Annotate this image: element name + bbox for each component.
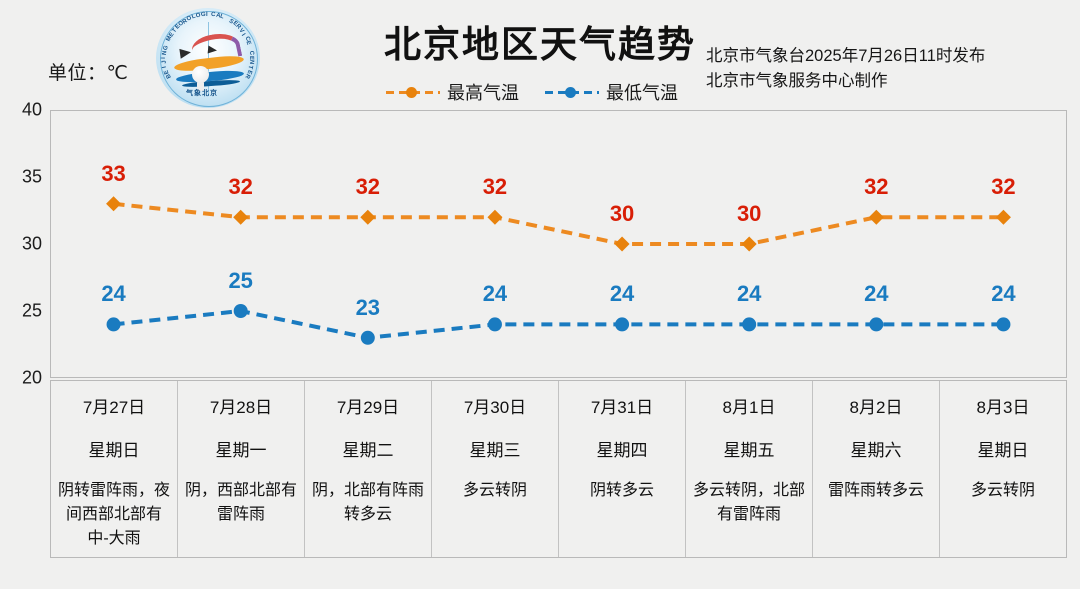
forecast-date: 7月31日 — [591, 393, 653, 418]
data-point-high — [360, 210, 375, 225]
data-point-high — [996, 210, 1011, 225]
data-label-high: 32 — [228, 174, 252, 200]
data-point-high — [106, 196, 121, 211]
forecast-weekday: 星期六 — [851, 436, 902, 461]
data-label-high: 33 — [101, 161, 125, 187]
chart-header: 单位：℃ BEIJING METEOROLOGICAL SERVICE CENT… — [0, 0, 1080, 104]
data-point-low — [488, 317, 502, 331]
y-axis-tick: 30 — [22, 234, 42, 255]
y-axis: 2025303540 — [0, 110, 50, 378]
forecast-column: 7月27日星期日阴转雷阵雨，夜间西部北部有中-大雨 — [51, 381, 178, 557]
chart-plot-area: 33323232303032322425232424242424 — [50, 110, 1067, 378]
data-point-low — [361, 331, 375, 345]
forecast-weekday: 星期四 — [597, 436, 648, 461]
y-axis-tick: 25 — [22, 301, 42, 322]
issue-info: 北京市气象台2025年7月26日11时发布 北京市气象服务中心制作 — [706, 44, 985, 94]
forecast-description: 阴转雷阵雨，夜间西部北部有中-大雨 — [56, 479, 172, 551]
forecast-date: 8月3日 — [977, 393, 1030, 418]
forecast-date: 8月2日 — [850, 393, 903, 418]
logo-text-cn: 气象北京 — [186, 88, 218, 98]
forecast-date: 7月28日 — [210, 393, 272, 418]
data-label-high: 32 — [864, 174, 888, 200]
legend-item-low: 最低气温 — [545, 79, 678, 105]
forecast-description: 阴，西部北部有雷阵雨 — [183, 479, 299, 527]
data-point-high — [869, 210, 884, 225]
data-point-low — [742, 317, 756, 331]
forecast-date: 8月1日 — [723, 393, 776, 418]
data-label-low: 23 — [356, 295, 380, 321]
data-label-low: 24 — [991, 281, 1015, 307]
forecast-column: 7月29日星期二阴，北部有阵雨转多云 — [305, 381, 432, 557]
forecast-table: 7月27日星期日阴转雷阵雨，夜间西部北部有中-大雨7月28日星期一阴，西部北部有… — [50, 380, 1067, 558]
forecast-date: 7月29日 — [337, 393, 399, 418]
forecast-date: 7月27日 — [83, 393, 145, 418]
forecast-weekday: 星期一 — [216, 436, 267, 461]
data-label-low: 24 — [737, 281, 761, 307]
data-point-low — [869, 317, 883, 331]
issue-line-2: 北京市气象服务中心制作 — [706, 69, 985, 94]
forecast-weekday: 星期日 — [89, 436, 140, 461]
data-label-high: 30 — [737, 201, 761, 227]
legend-marker-low-icon — [545, 86, 599, 98]
legend-marker-high-icon — [386, 86, 440, 98]
forecast-description: 雷阵雨转多云 — [828, 479, 924, 503]
y-axis-tick: 35 — [22, 167, 42, 188]
data-label-low: 24 — [483, 281, 507, 307]
forecast-weekday: 星期二 — [343, 436, 394, 461]
data-point-high — [742, 237, 757, 252]
chart-series-svg — [50, 110, 1067, 378]
forecast-column: 7月31日星期四阴转多云 — [559, 381, 686, 557]
data-label-low: 24 — [610, 281, 634, 307]
forecast-weekday: 星期日 — [978, 436, 1029, 461]
forecast-description: 多云转阴 — [971, 479, 1035, 503]
data-label-low: 24 — [101, 281, 125, 307]
data-point-low — [107, 317, 121, 331]
data-label-high: 30 — [610, 201, 634, 227]
forecast-description: 阴，北部有阵雨转多云 — [310, 479, 426, 527]
legend-label-low: 最低气温 — [606, 79, 678, 105]
forecast-column: 8月1日星期五多云转阴，北部有雷阵雨 — [686, 381, 813, 557]
forecast-column: 8月3日星期日多云转阴 — [940, 381, 1066, 557]
data-point-low — [234, 304, 248, 318]
legend-label-high: 最高气温 — [447, 79, 519, 105]
data-label-high: 32 — [356, 174, 380, 200]
series-line-high — [114, 204, 1004, 244]
forecast-column: 7月30日星期三多云转阴 — [432, 381, 559, 557]
y-axis-tick: 40 — [22, 100, 42, 121]
data-label-high: 32 — [991, 174, 1015, 200]
y-axis-tick: 20 — [22, 368, 42, 389]
data-point-high — [233, 210, 248, 225]
data-label-low: 24 — [864, 281, 888, 307]
data-point-low — [615, 317, 629, 331]
issue-line-1: 北京市气象台2025年7月26日11时发布 — [706, 44, 985, 69]
data-point-high — [487, 210, 502, 225]
chart-legend: 最高气温 最低气温 — [386, 80, 678, 104]
forecast-description: 多云转阴 — [463, 479, 527, 503]
legend-item-high: 最高气温 — [386, 79, 519, 105]
data-point-low — [996, 317, 1010, 331]
forecast-weekday: 星期三 — [470, 436, 521, 461]
forecast-column: 7月28日星期一阴，西部北部有雷阵雨 — [178, 381, 305, 557]
forecast-column: 8月2日星期六雷阵雨转多云 — [813, 381, 940, 557]
data-label-low: 25 — [228, 268, 252, 294]
data-point-high — [615, 237, 630, 252]
data-label-high: 32 — [483, 174, 507, 200]
forecast-description: 阴转多云 — [590, 479, 654, 503]
forecast-description: 多云转阴，北部有雷阵雨 — [691, 479, 807, 527]
forecast-date: 7月30日 — [464, 393, 526, 418]
forecast-weekday: 星期五 — [724, 436, 775, 461]
